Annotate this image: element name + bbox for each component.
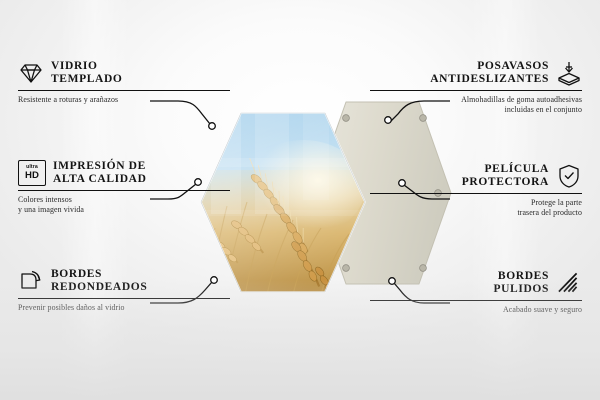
desc-line-1: Protege la parte (531, 198, 582, 207)
feature-bordes-redondeados[interactable]: BORDES REDONDEADOS Prevenir posibles dañ… (18, 268, 230, 313)
title-line-2: REDONDEADOS (51, 281, 147, 293)
ultra-hd-badge-icon: ultra HD (18, 160, 46, 186)
feature-head: POSAVASOS ANTIDESLIZANTES (370, 60, 582, 86)
product-infographic: VIDRIO TEMPLADO Resistente a roturas y a… (0, 0, 600, 400)
title-line-2: ANTIDESLIZANTES (430, 73, 549, 85)
feature-head: ultra HD IMPRESIÓN DE ALTA CALIDAD (18, 160, 230, 186)
title-line-1: PELÍCULA (485, 163, 550, 175)
title-line-2: PULIDOS (493, 283, 549, 295)
feature-description: Prevenir posibles daños al vidrio (18, 303, 230, 313)
shield-check-icon (556, 163, 582, 189)
feature-description: Protege la parte trasera del producto (370, 198, 582, 219)
desc-line-2: incluidas en el conjunto (505, 105, 582, 114)
feature-title: PELÍCULA PROTECTORA (462, 163, 549, 189)
feature-title: BORDES PULIDOS (493, 270, 549, 296)
rounded-corner-icon (18, 268, 44, 294)
title-line-1: BORDES (498, 270, 549, 282)
diagonal-lines-icon (556, 270, 582, 296)
feature-pelicula-protectora[interactable]: PELÍCULA PROTECTORA Protege la parte tra… (370, 163, 582, 219)
feature-head: BORDES REDONDEADOS (18, 268, 230, 294)
feature-vidrio-templado[interactable]: VIDRIO TEMPLADO Resistente a roturas y a… (18, 60, 230, 105)
feature-title: BORDES REDONDEADOS (51, 268, 147, 294)
title-line-1: VIDRIO (51, 60, 98, 72)
title-line-2: ALTA CALIDAD (53, 173, 147, 185)
title-line-1: BORDES (51, 268, 102, 280)
feature-title: POSAVASOS ANTIDESLIZANTES (430, 60, 549, 86)
feature-impresion-alta-calidad[interactable]: ultra HD IMPRESIÓN DE ALTA CALIDAD Color… (18, 160, 230, 216)
feature-rule (18, 298, 230, 299)
title-line-1: IMPRESIÓN DE (53, 160, 146, 172)
feature-title: IMPRESIÓN DE ALTA CALIDAD (53, 160, 147, 186)
title-line-1: POSAVASOS (477, 60, 549, 72)
feature-description: Resistente a roturas y arañazos (18, 95, 230, 105)
feature-description: Acabado suave y seguro (370, 305, 582, 315)
badge-bottom-text: HD (25, 171, 39, 181)
title-line-2: TEMPLADO (51, 73, 123, 85)
desc-line-1: Colores intensos (18, 195, 72, 204)
feature-description: Colores intensos y una imagen vivida (18, 195, 230, 216)
feature-rule (370, 90, 582, 91)
feature-head: BORDES PULIDOS (370, 270, 582, 296)
desc-line-2: y una imagen vivida (18, 205, 84, 214)
feature-bordes-pulidos[interactable]: BORDES PULIDOS Acabado suave y seguro (370, 270, 582, 315)
feature-head: PELÍCULA PROTECTORA (370, 163, 582, 189)
press-pad-icon (556, 60, 582, 86)
feature-rule (370, 193, 582, 194)
feature-rule (18, 90, 230, 91)
diamond-icon (18, 60, 44, 86)
feature-head: VIDRIO TEMPLADO (18, 60, 230, 86)
title-line-2: PROTECTORA (462, 176, 549, 188)
feature-rule (370, 300, 582, 301)
desc-line-2: trasera del producto (517, 208, 582, 217)
feature-rule (18, 190, 230, 191)
feature-posavasos-antideslizantes[interactable]: POSAVASOS ANTIDESLIZANTES Almohadillas d… (370, 60, 582, 116)
feature-title: VIDRIO TEMPLADO (51, 60, 123, 86)
desc-line-1: Almohadillas de goma autoadhesivas (461, 95, 582, 104)
feature-description: Almohadillas de goma autoadhesivas inclu… (370, 95, 582, 116)
